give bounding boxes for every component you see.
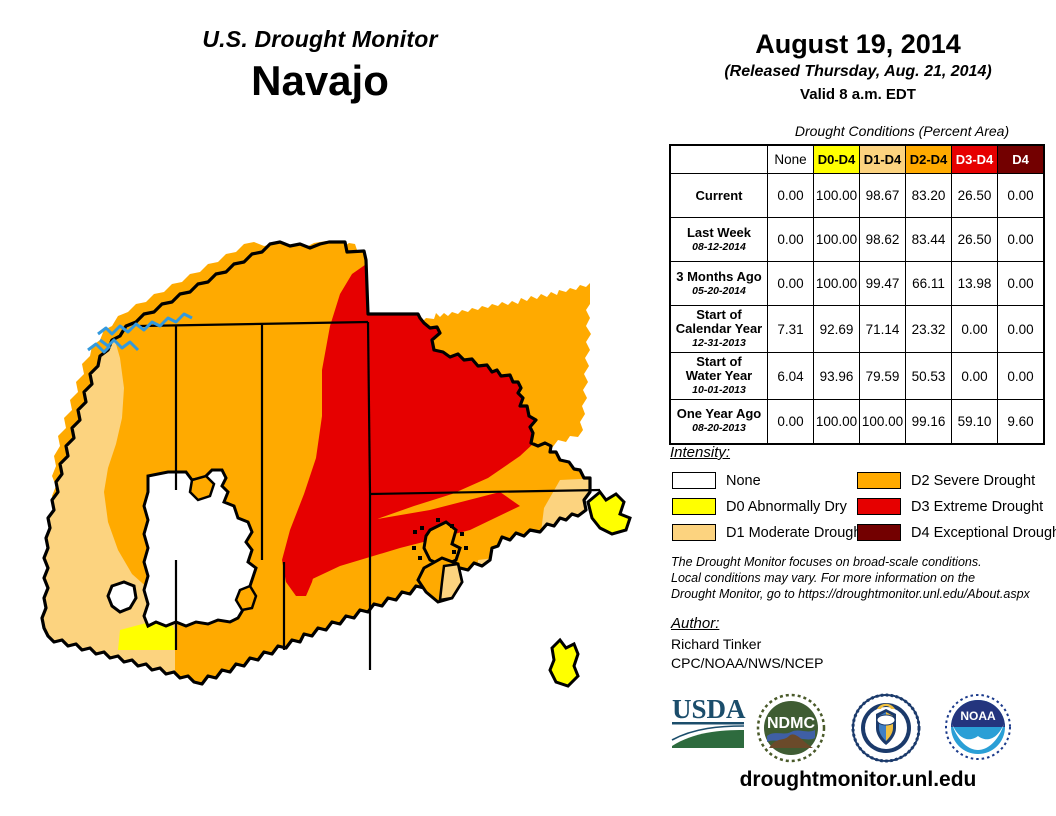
cell-1-0: 0.00 (768, 218, 814, 262)
legend-swatch-icon (857, 472, 901, 489)
legend-label: None (726, 473, 761, 489)
legend-label: D2 Severe Drought (911, 473, 1035, 489)
cell-4-2: 79.59 (860, 353, 906, 400)
noaa-logo-text: NOAA (960, 709, 996, 723)
exclave-d0-alamo (550, 640, 578, 686)
svg-text:USDA: USDA (672, 694, 746, 724)
table-row: Current0.00100.0098.6783.2026.500.00 (670, 174, 1044, 218)
cell-0-5: 0.00 (998, 174, 1045, 218)
website-url: droughtmonitor.unl.edu (660, 768, 1056, 792)
legend-item: D2 Severe Drought (857, 468, 1056, 493)
cell-3-3: 23.32 (906, 306, 952, 353)
usda-logo: USDA (670, 692, 748, 759)
legend-swatch-icon (672, 472, 716, 489)
row-label-date: 12-31-2013 (675, 336, 763, 350)
disclaimer-line-3: Drought Monitor, go to https://droughtmo… (671, 586, 1051, 602)
region-d2-island-in-hole (190, 476, 214, 500)
row-label-date: 10-01-2013 (675, 383, 763, 397)
table-row: Start ofWater Year10-01-20136.0493.9679.… (670, 353, 1044, 400)
valid-time: Valid 8 a.m. EDT (660, 85, 1056, 105)
cell-1-5: 0.00 (998, 218, 1045, 262)
cell-4-3: 50.53 (906, 353, 952, 400)
cell-1-1: 100.00 (814, 218, 860, 262)
ndmc-logo-text: NDMC (767, 715, 815, 732)
map-exclave-alamo (550, 640, 578, 686)
cell-4-5: 0.00 (998, 353, 1045, 400)
table-corner-cell (670, 145, 768, 174)
cell-4-4: 0.00 (952, 353, 998, 400)
column-header-d1d4: D1-D4 (860, 145, 906, 174)
table-caption: Drought Conditions (Percent Area) (766, 122, 1038, 140)
legend-item: D0 Abnormally Dry (672, 494, 865, 519)
cell-2-1: 100.00 (814, 262, 860, 306)
noaa-logo: NOAA (943, 692, 1013, 767)
row-label-0: Current (670, 174, 768, 218)
map-title-block: U.S. Drought Monitor Navajo (0, 24, 640, 106)
disclaimer-text: The Drought Monitor focuses on broad-sca… (671, 554, 1051, 602)
row-label-name: One Year Ago (675, 407, 763, 421)
exclave-d1-lower (440, 564, 462, 600)
exclave-d0-ramah (588, 492, 630, 534)
row-label-name: Last Week (675, 226, 763, 240)
cell-4-1: 93.96 (814, 353, 860, 400)
column-header-none: None (768, 145, 814, 174)
released-date: (Released Thursday, Aug. 21, 2014) (660, 61, 1056, 83)
column-header-d0d4: D0-D4 (814, 145, 860, 174)
cell-3-4: 0.00 (952, 306, 998, 353)
cell-3-2: 71.14 (860, 306, 906, 353)
legend-column-right: D2 Severe DroughtD3 Extreme DroughtD4 Ex… (857, 468, 1056, 546)
legend-item: D3 Extreme Drought (857, 494, 1056, 519)
row-label-4: Start ofWater Year10-01-2013 (670, 353, 768, 400)
cell-2-3: 66.11 (906, 262, 952, 306)
legend-item: None (672, 468, 865, 493)
row-label-name: Start ofWater Year (675, 355, 763, 383)
legend-label: D3 Extreme Drought (911, 499, 1043, 515)
table-row: One Year Ago08-20-20130.00100.00100.0099… (670, 400, 1044, 444)
cell-4-0: 6.04 (768, 353, 814, 400)
legend-swatch-icon (672, 498, 716, 515)
cell-5-5: 9.60 (998, 400, 1045, 444)
disclaimer-line-1: The Drought Monitor focuses on broad-sca… (671, 554, 1051, 570)
intensity-heading: Intensity: (670, 444, 730, 461)
table-row: Start ofCalendar Year12-31-20137.3192.69… (670, 306, 1044, 353)
cell-1-2: 98.62 (860, 218, 906, 262)
cell-3-5: 0.00 (998, 306, 1045, 353)
cell-2-5: 0.00 (998, 262, 1045, 306)
cell-1-3: 83.44 (906, 218, 952, 262)
program-title: U.S. Drought Monitor (0, 24, 640, 54)
legend-swatch-icon (857, 498, 901, 515)
map-svg (0, 230, 640, 690)
legend-item: D1 Moderate Drought (672, 520, 865, 545)
legend-item: D4 Exceptional Drought (857, 520, 1056, 545)
cell-2-0: 0.00 (768, 262, 814, 306)
column-header-d2d4: D2-D4 (906, 145, 952, 174)
cell-5-2: 100.00 (860, 400, 906, 444)
ndmc-logo: NDMC (755, 692, 827, 769)
row-label-5: One Year Ago08-20-2013 (670, 400, 768, 444)
legend-label: D0 Abnormally Dry (726, 499, 847, 515)
author-affiliation: CPC/NOAA/NWS/NCEP (671, 654, 823, 673)
cell-0-4: 26.50 (952, 174, 998, 218)
table-header-row: None D0-D4 D1-D4 D2-D4 D3-D4 D4 (670, 145, 1044, 174)
cell-0-0: 0.00 (768, 174, 814, 218)
row-label-name: Start ofCalendar Year (675, 308, 763, 336)
region-d2-island-small-south (236, 586, 256, 610)
drought-conditions-table: None D0-D4 D1-D4 D2-D4 D3-D4 D4 Current0… (669, 144, 1045, 445)
region-none-small-hole (108, 582, 136, 612)
cell-3-1: 92.69 (814, 306, 860, 353)
partner-logos: USDA NDMC (665, 692, 1045, 770)
row-label-name: Current (675, 189, 763, 203)
navajo-drought-map (0, 230, 640, 690)
legend-label: D4 Exceptional Drought (911, 525, 1056, 541)
cell-2-4: 13.98 (952, 262, 998, 306)
column-header-d4: D4 (998, 145, 1045, 174)
table-row: Last Week08-12-20140.00100.0098.6283.442… (670, 218, 1044, 262)
cell-0-2: 98.67 (860, 174, 906, 218)
map-exclave-ramah (588, 492, 630, 534)
cell-3-0: 7.31 (768, 306, 814, 353)
region-title: Navajo (0, 56, 640, 106)
row-label-date: 05-20-2014 (675, 284, 763, 298)
row-label-date: 08-20-2013 (675, 421, 763, 435)
column-header-d3d4: D3-D4 (952, 145, 998, 174)
map-main-body (0, 230, 640, 690)
cell-2-2: 99.47 (860, 262, 906, 306)
row-label-date: 08-12-2014 (675, 240, 763, 254)
date-header-block: August 19, 2014 (Released Thursday, Aug.… (660, 28, 1056, 105)
cell-5-4: 59.10 (952, 400, 998, 444)
valid-date: August 19, 2014 (660, 28, 1056, 60)
table-row: 3 Months Ago05-20-20140.00100.0099.4766.… (670, 262, 1044, 306)
author-block: Richard Tinker CPC/NOAA/NWS/NCEP (671, 635, 823, 673)
author-name: Richard Tinker (671, 635, 823, 654)
legend-swatch-icon (857, 524, 901, 541)
row-label-3: Start ofCalendar Year12-31-2013 (670, 306, 768, 353)
row-label-2: 3 Months Ago05-20-2014 (670, 262, 768, 306)
cell-0-3: 83.20 (906, 174, 952, 218)
legend-label: D1 Moderate Drought (726, 525, 865, 541)
row-label-1: Last Week08-12-2014 (670, 218, 768, 262)
disclaimer-line-2: Local conditions may vary. For more info… (671, 570, 1051, 586)
cell-5-0: 0.00 (768, 400, 814, 444)
cell-5-1: 100.00 (814, 400, 860, 444)
cell-5-3: 99.16 (906, 400, 952, 444)
author-heading: Author: (671, 615, 719, 632)
row-label-name: 3 Months Ago (675, 270, 763, 284)
table-body: Current0.00100.0098.6783.2026.500.00Last… (670, 174, 1044, 444)
legend-swatch-icon (672, 524, 716, 541)
cell-0-1: 100.00 (814, 174, 860, 218)
usdoc-seal (850, 692, 922, 769)
legend-column-left: NoneD0 Abnormally DryD1 Moderate Drought (672, 468, 865, 546)
cell-1-4: 26.50 (952, 218, 998, 262)
